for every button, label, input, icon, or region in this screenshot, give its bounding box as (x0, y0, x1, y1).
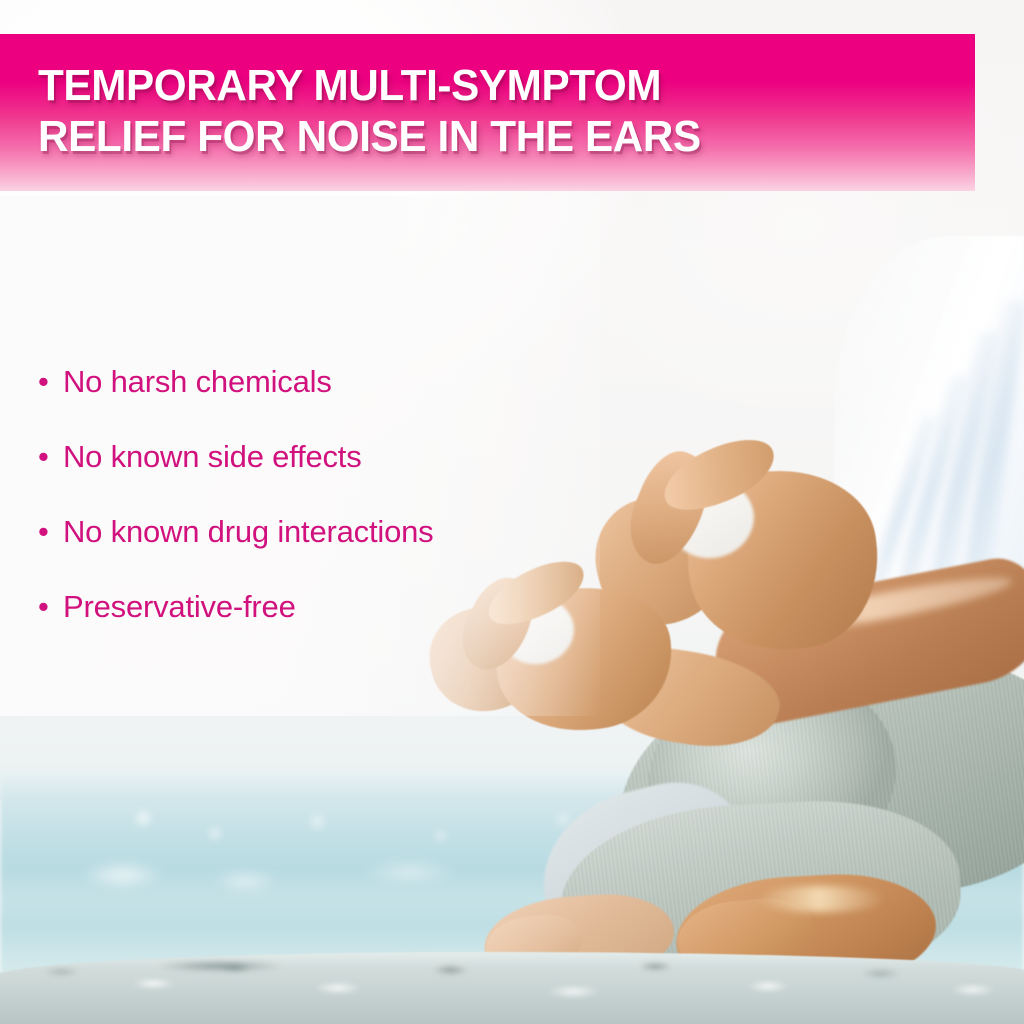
list-item: • No known drug interactions (38, 512, 433, 587)
foot-highlight (756, 886, 886, 912)
ad-canvas: TEMPORARY MULTI-SYMPTOM RELIEF FOR NOISE… (0, 0, 1024, 1024)
headline-text: TEMPORARY MULTI-SYMPTOM RELIEF FOR NOISE… (38, 60, 701, 162)
bullet-icon: • (38, 362, 63, 402)
list-item: • Preservative-free (38, 587, 433, 662)
benefit-label: No known drug interactions (63, 512, 433, 552)
bullet-icon: • (38, 512, 63, 552)
headline-banner: TEMPORARY MULTI-SYMPTOM RELIEF FOR NOISE… (0, 34, 975, 191)
bullet-icon: • (38, 437, 63, 477)
benefits-list: • No harsh chemicals • No known side eff… (38, 362, 433, 662)
benefit-label: Preservative-free (63, 587, 296, 627)
benefit-label: No known side effects (63, 437, 362, 477)
list-item: • No harsh chemicals (38, 362, 433, 437)
bullet-icon: • (38, 587, 63, 627)
rock-shadow (130, 958, 310, 974)
benefit-label: No harsh chemicals (63, 362, 332, 402)
list-item: • No known side effects (38, 437, 433, 512)
